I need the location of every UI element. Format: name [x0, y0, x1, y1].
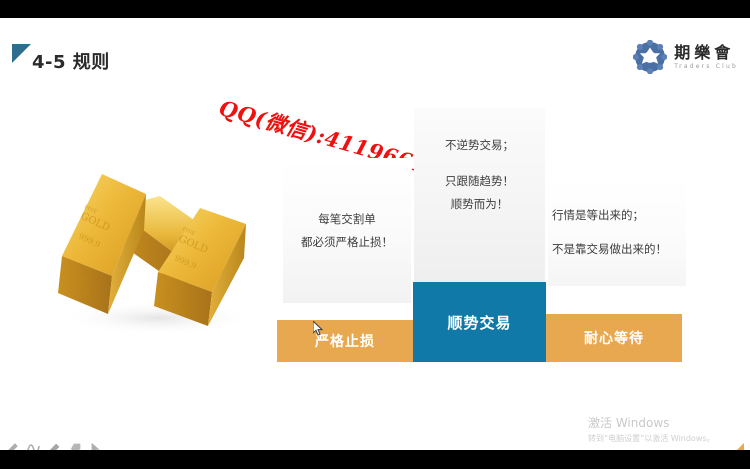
bar-label: 耐心等待	[584, 328, 644, 348]
letterbox-bottom	[0, 450, 750, 469]
panel-line: 不是靠交易做出来的！	[552, 238, 667, 260]
curve-icon[interactable]	[27, 442, 40, 450]
screenshot-root: 4-5 规则 期樂會 Traders Club	[0, 0, 750, 469]
panel-line: 都必须严格止损！	[301, 231, 393, 253]
gear-flower-logo-icon	[633, 40, 667, 74]
bar-strict-stoploss[interactable]: 严格止损	[277, 320, 413, 362]
panel-trend-trading: 不逆势交易； 只跟随趋势！ 顺势而为！	[414, 108, 545, 286]
panel-line: 不逆势交易；	[445, 134, 514, 156]
activation-subtitle: 转到“电脑设置”以激活 Windows。	[588, 433, 715, 444]
eraser-icon[interactable]	[69, 442, 82, 450]
bar-trend-trading[interactable]: 顺势交易	[413, 282, 546, 362]
brand-name-en: Traders Club	[674, 64, 738, 70]
panel-line: 行情是等出来的；	[552, 204, 644, 226]
triangle-flag-icon	[12, 44, 31, 63]
mouse-pointer-icon	[313, 321, 325, 337]
panel-line: 只跟随趋势！	[445, 170, 514, 192]
panel-line: 顺势而为！	[451, 193, 509, 215]
marker-icon[interactable]	[48, 442, 61, 450]
corner-triangle-icon	[727, 443, 744, 450]
page-title: 4-5 规则	[32, 48, 110, 74]
presentation-slide: 4-5 规则 期樂會 Traders Club	[0, 18, 750, 450]
panel-strict-stoploss: 每笔交割单 都必须严格止损！	[283, 158, 411, 303]
bar-label: 顺势交易	[447, 312, 511, 333]
panel-patient-waiting: 行情是等出来的； 不是靠交易做出来的！	[548, 178, 686, 286]
brand-logo: 期樂會 Traders Club	[633, 40, 738, 74]
pointer-icon[interactable]	[90, 442, 103, 450]
letterbox-top	[0, 0, 750, 18]
pen-icon[interactable]	[6, 442, 19, 450]
ink-toolbar[interactable]	[6, 442, 103, 450]
bar-patient-waiting[interactable]: 耐心等待	[546, 314, 682, 362]
activation-title: 激活 Windows	[588, 416, 715, 432]
gold-bars-photo: FINE GOLD 999.9 NET WT 1000g FINE GOLD 9…	[40, 146, 265, 341]
windows-activation-watermark: 激活 Windows 转到“电脑设置”以激活 Windows。	[588, 416, 715, 444]
brand-name-cn: 期樂會	[674, 45, 738, 61]
panel-line: 每笔交割单	[318, 208, 376, 230]
